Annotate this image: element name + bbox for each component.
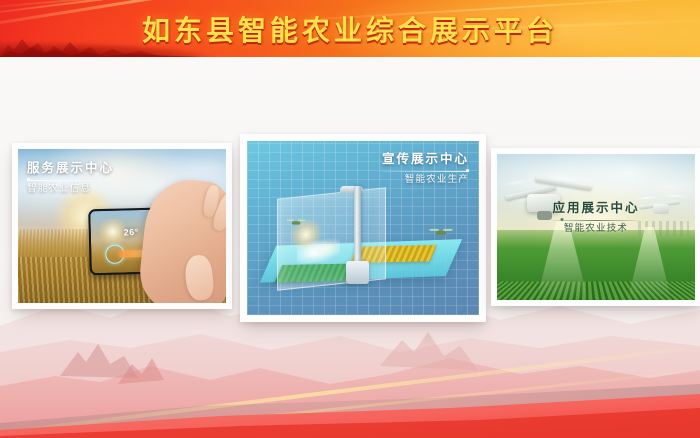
caption-divider xyxy=(382,171,469,172)
card-promotion-title: 宣传展示中心 xyxy=(382,153,469,167)
card-promotion-image: 宣传展示中心 智能农业生产 xyxy=(247,141,479,315)
drone-body xyxy=(292,221,301,224)
rotor xyxy=(443,229,452,231)
page-stage: 如东县智能农业综合展示平台 xyxy=(0,0,700,438)
drone-body xyxy=(436,231,447,235)
rotor xyxy=(298,219,306,220)
card-application-caption: 应用展示中心 智能农业技术 xyxy=(552,202,639,234)
page-title: 如东县智能农业综合展示平台 xyxy=(0,0,700,57)
card-service-image: 26° 服务展示中心 智能农业信息 xyxy=(18,149,226,303)
water-tank xyxy=(346,261,369,284)
rotor xyxy=(499,179,537,187)
drone-icon xyxy=(288,218,305,226)
card-service-caption: 服务展示中心 智能农业信息 xyxy=(27,162,114,194)
card-promotion-caption: 宣传展示中心 智能农业生产 xyxy=(382,153,469,185)
card-service-subtitle: 智能农业信息 xyxy=(27,184,114,194)
header-banner: 如东县智能农业综合展示平台 xyxy=(0,0,700,57)
caption-divider xyxy=(552,220,639,221)
drone-icon xyxy=(431,228,452,237)
thumb xyxy=(183,254,215,302)
drone-camera xyxy=(537,211,553,220)
caption-divider xyxy=(27,180,114,181)
rotor xyxy=(662,194,689,198)
card-service-title: 服务展示中心 xyxy=(27,162,114,176)
temperature-readout: 26° xyxy=(123,227,138,237)
card-promotion-subtitle: 智能农业生产 xyxy=(382,175,469,185)
drone-icon xyxy=(636,189,687,221)
card-application-image: 应用展示中心 智能农业技术 xyxy=(497,154,695,300)
drone-body xyxy=(653,204,668,214)
rotor xyxy=(634,196,660,200)
rotor xyxy=(562,172,602,179)
rotor xyxy=(287,219,295,220)
card-application-subtitle: 智能农业技术 xyxy=(552,224,639,234)
greenhouse-glass-structure xyxy=(277,187,386,291)
card-promotion-display-center[interactable]: 宣传展示中心 智能农业生产 xyxy=(240,134,486,322)
card-application-title: 应用展示中心 xyxy=(552,202,639,216)
greenhouse-clouds xyxy=(297,235,340,265)
card-application-display-center[interactable]: 应用展示中心 智能农业技术 xyxy=(491,148,700,306)
card-service-display-center[interactable]: 26° 服务展示中心 智能农业信息 xyxy=(12,143,232,309)
